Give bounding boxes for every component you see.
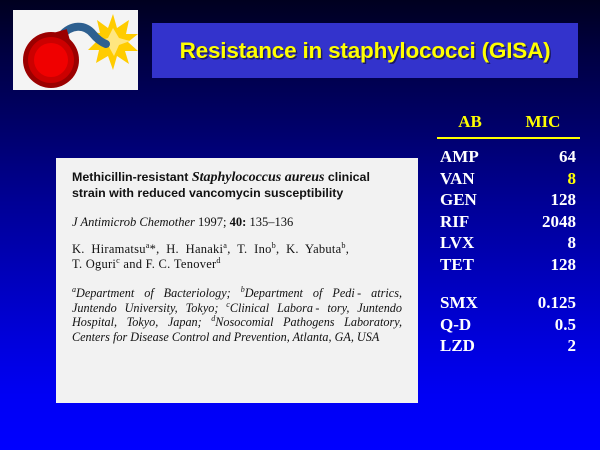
mic-table-header: AB MIC xyxy=(434,112,580,134)
cell-mic: 128 xyxy=(506,189,576,211)
cell-mic: 2 xyxy=(506,335,576,357)
cell-mic: 8 xyxy=(506,168,576,190)
cell-ab: LVX xyxy=(434,232,506,254)
citation-journal-line: J Antimicrob Chemother 1997; 40: 135–136 xyxy=(72,215,402,230)
citation-affiliations: aDepartment of Bacteriology; bDepartment… xyxy=(72,286,402,344)
bomb-body-inner-icon xyxy=(34,43,68,77)
cell-mic: 8 xyxy=(506,232,576,254)
cell-ab: RIF xyxy=(434,211,506,233)
column-header-ab: AB xyxy=(434,112,506,132)
table-row: LVX 8 xyxy=(434,232,580,254)
citation-card: Methicillin-resistant Staphylococcus aur… xyxy=(56,158,418,403)
citation-title-part1: Methicillin-resistant xyxy=(72,170,192,184)
citation-title: Methicillin-resistant Staphylococcus aur… xyxy=(72,170,402,201)
table-row: AMP 64 xyxy=(434,146,580,168)
table-row: Q-D 0.5 xyxy=(434,314,580,336)
table-row: VAN 8 xyxy=(434,168,580,190)
cell-mic: 2048 xyxy=(506,211,576,233)
journal-pages: 135–136 xyxy=(246,215,293,229)
cell-ab: GEN xyxy=(434,189,506,211)
journal-name: J Antimicrob Chemother xyxy=(72,215,195,229)
table-row: TET 128 xyxy=(434,254,580,276)
journal-volume: 40: xyxy=(230,215,247,229)
mic-group-divider xyxy=(434,275,580,292)
mic-group-1: AMP 64 VAN 8 GEN 128 RIF 2048 LVX 8 TET … xyxy=(434,146,580,275)
cell-mic: 0.125 xyxy=(506,292,576,314)
table-row: LZD 2 xyxy=(434,335,580,357)
mic-table: AB MIC AMP 64 VAN 8 GEN 128 RIF 2048 LVX xyxy=(434,112,580,357)
cell-ab: VAN xyxy=(434,168,506,190)
slide-title: Resistance in staphylococci (GISA) xyxy=(180,38,551,64)
cell-mic: 128 xyxy=(506,254,576,276)
cell-ab: AMP xyxy=(434,146,506,168)
title-banner: Resistance in staphylococci (GISA) xyxy=(152,23,578,78)
slide-canvas: Resistance in staphylococci (GISA) Methi… xyxy=(0,0,600,450)
cell-ab: SMX xyxy=(434,292,506,314)
cell-mic: 64 xyxy=(506,146,576,168)
bomb-logo-box xyxy=(13,10,138,90)
journal-year: 1997; xyxy=(195,215,230,229)
cell-ab: TET xyxy=(434,254,506,276)
mic-group-2: SMX 0.125 Q-D 0.5 LZD 2 xyxy=(434,292,580,357)
table-row: SMX 0.125 xyxy=(434,292,580,314)
cell-ab: LZD xyxy=(434,335,506,357)
bomb-icon xyxy=(13,10,138,90)
table-row: GEN 128 xyxy=(434,189,580,211)
citation-species: Staphylococcus aureus xyxy=(192,170,325,185)
citation-authors: K. Hiramatsua*, H. Hanakia, T. Inob, K. … xyxy=(72,242,402,272)
cell-ab: Q-D xyxy=(434,314,506,336)
table-row: RIF 2048 xyxy=(434,211,580,233)
mic-table-rule xyxy=(437,137,580,139)
column-header-mic: MIC xyxy=(506,112,580,132)
cell-mic: 0.5 xyxy=(506,314,576,336)
